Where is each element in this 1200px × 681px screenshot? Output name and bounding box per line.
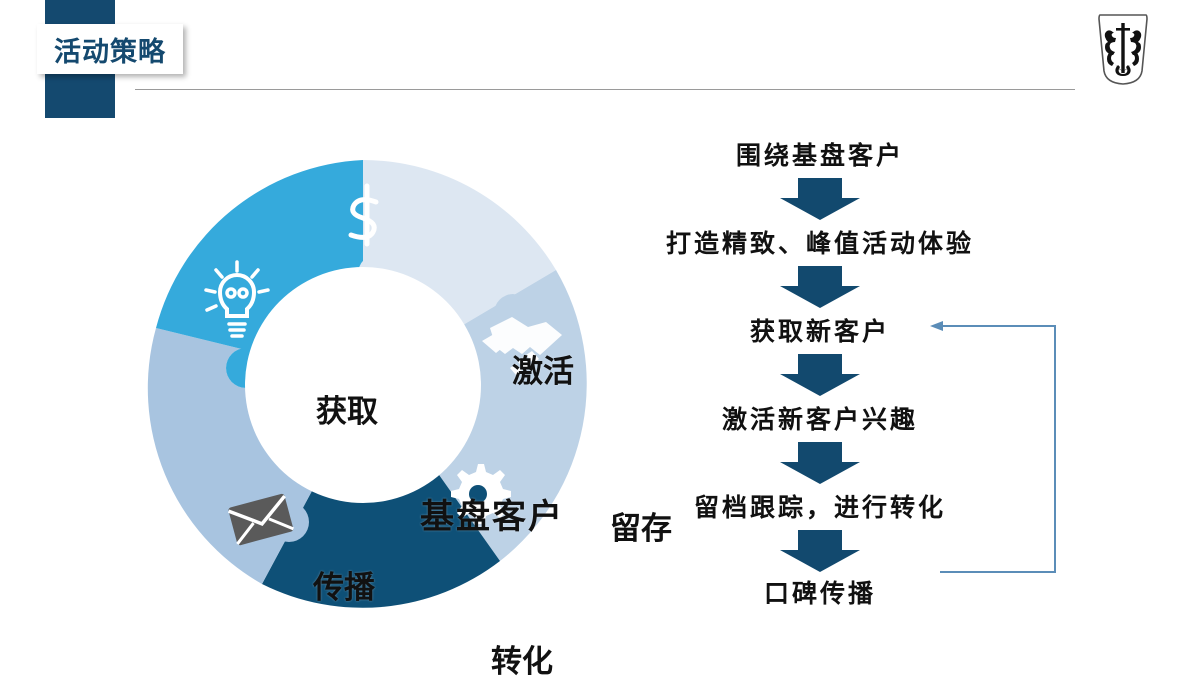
crest-shield-lions-logo-icon (1092, 9, 1154, 89)
wheel-center-label: 基盘客户 (420, 489, 564, 538)
page-title-plate: 活动策略 (37, 24, 183, 74)
header-divider (135, 89, 1075, 90)
feedback-loop-arrow-icon (900, 310, 1090, 600)
flow-arrow-4 (765, 442, 875, 484)
flow-step-1: 围绕基盘客户 (620, 136, 1020, 172)
wheel-center-hub (245, 267, 481, 503)
page-title: 活动策略 (37, 24, 183, 74)
flow-arrow-5 (765, 530, 875, 572)
wheel-label-activate: 激活 (512, 346, 574, 391)
wheel-label-convert: 转化 (491, 636, 553, 681)
flow-arrow-1 (765, 178, 875, 220)
flow-arrow-3 (765, 354, 875, 396)
campaign-flow-chart: 围绕基盘客户 打造精致、峰值活动体验 获取新客户 激活新客户兴趣 留档跟踪，进行… (620, 130, 1090, 630)
wheel-label-acquire: 获取 (316, 386, 378, 431)
customer-lifecycle-puzzle-wheel: 获取 激活 留存 转化 传播 基盘客户 (128, 150, 598, 620)
page-header: 活动策略 (0, 0, 1200, 120)
wheel-label-spread: 传播 (313, 562, 375, 607)
flow-arrow-2 (765, 266, 875, 308)
flow-step-2: 打造精致、峰值活动体验 (620, 224, 1020, 260)
